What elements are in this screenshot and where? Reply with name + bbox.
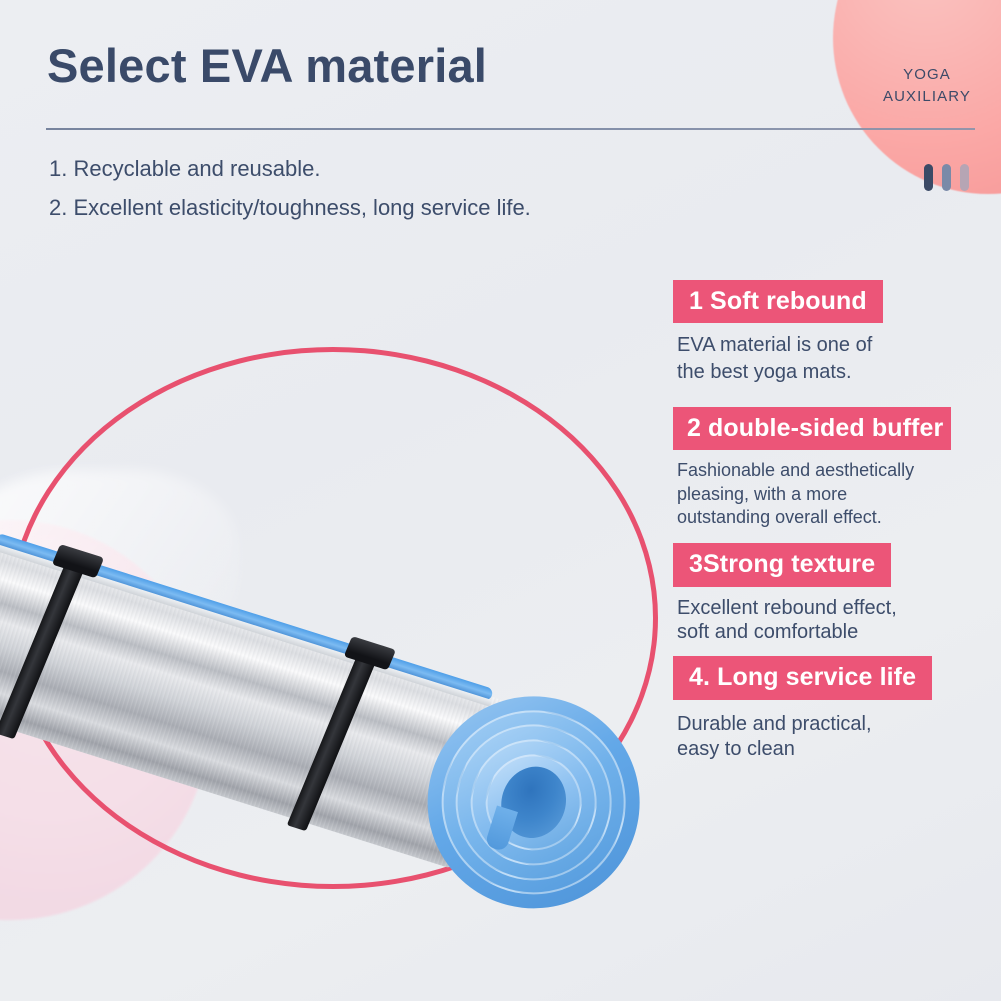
brand-mark: YOGA AUXILIARY <box>883 64 971 108</box>
brand-bar-2 <box>942 164 951 191</box>
feature-2-line-1: Fashionable and aesthetically <box>677 459 1001 482</box>
header-divider <box>46 128 975 130</box>
product-infographic-poster: Select EVA material 1. Recyclable and re… <box>0 0 1001 1001</box>
feature-card-2: 2 double-sided buffer Fashionable and ae… <box>673 407 1001 529</box>
feature-4-line-1: Durable and practical, <box>677 712 1001 737</box>
feature-badge-4: 4. Long service life <box>673 656 932 699</box>
bullet-item-2: 2. Excellent elasticity/toughness, long … <box>49 197 689 219</box>
feature-description-3: Excellent rebound effect, soft and comfo… <box>677 596 1001 645</box>
feature-badge-3: 3Strong texture <box>673 543 891 586</box>
brand-line-auxiliary: AUXILIARY <box>883 86 971 108</box>
brand-bar-3 <box>960 164 969 191</box>
feature-description-2: Fashionable and aesthetically pleasing, … <box>677 459 1001 529</box>
feature-3-line-2: soft and comfortable <box>677 620 1001 644</box>
feature-3-line-1: Excellent rebound effect, <box>677 596 1001 620</box>
feature-badge-1: 1 Soft rebound <box>673 280 883 323</box>
feature-2-line-2: pleasing, with a more <box>677 483 1001 506</box>
brand-bar-1 <box>924 164 933 191</box>
feature-description-4: Durable and practical, easy to clean <box>677 712 1001 762</box>
feature-description-1: EVA material is one of the best yoga mat… <box>677 332 1001 385</box>
feature-2-line-3: outstanding overall effect. <box>677 506 1001 529</box>
brand-bars-decoration <box>924 164 969 191</box>
feature-1-line-1: EVA material is one of <box>677 332 1001 358</box>
feature-bullet-list: 1. Recyclable and reusable. 2. Excellent… <box>49 158 689 236</box>
bullet-item-1: 1. Recyclable and reusable. <box>49 158 689 180</box>
feature-card-3: 3Strong texture Excellent rebound effect… <box>673 543 1001 644</box>
feature-badge-2: 2 double-sided buffer <box>673 407 951 450</box>
feature-4-line-2: easy to clean <box>677 737 1001 762</box>
feature-1-line-2: the best yoga mats. <box>677 359 1001 385</box>
page-title: Select EVA material <box>47 38 487 93</box>
product-photo-stage <box>0 250 670 950</box>
feature-card-list: 1 Soft rebound EVA material is one of th… <box>673 280 1001 768</box>
feature-card-4: 4. Long service life Durable and practic… <box>673 656 1001 761</box>
brand-line-yoga: YOGA <box>883 64 971 86</box>
feature-card-1: 1 Soft rebound EVA material is one of th… <box>673 280 1001 385</box>
